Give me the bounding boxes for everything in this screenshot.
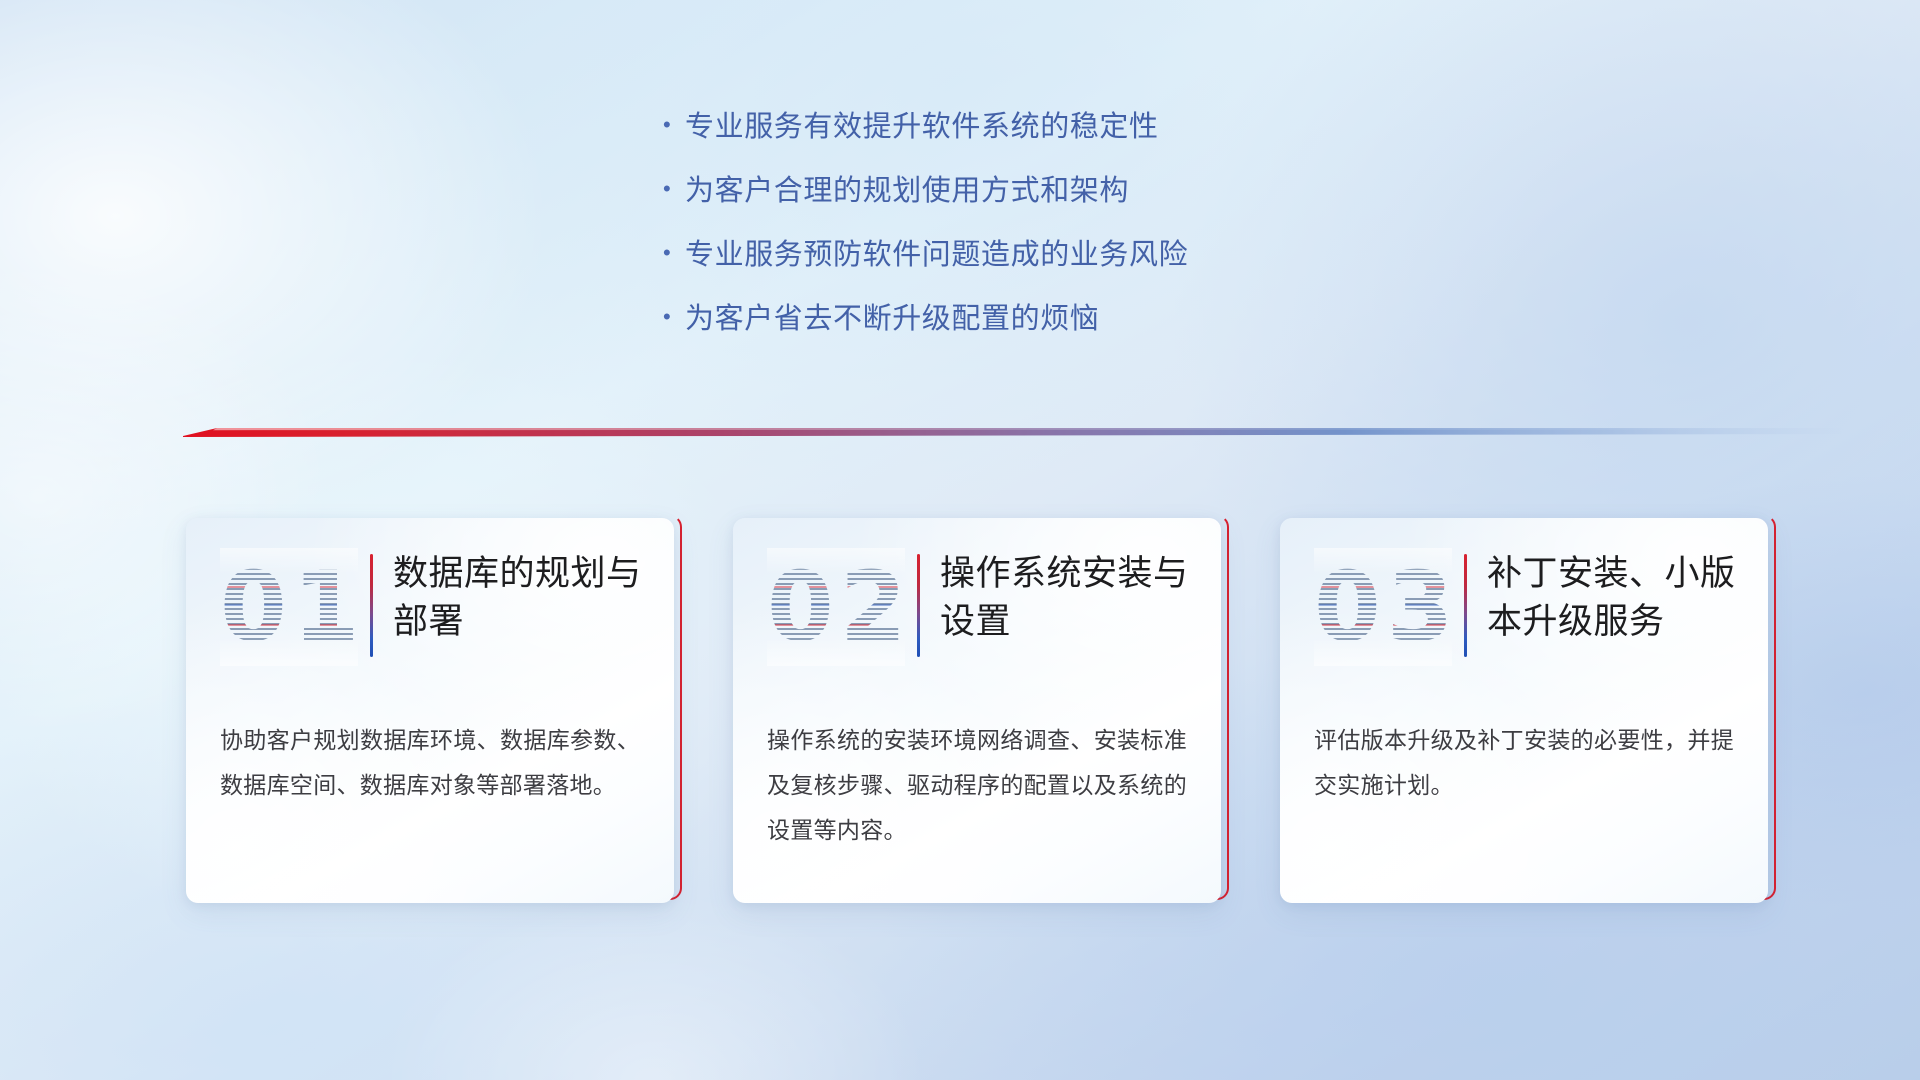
card-title-rule <box>1464 554 1467 657</box>
list-item: • 为客户省去不断升级配置的烦恼 <box>663 302 1563 336</box>
card-description: 协助客户规划数据库环境、数据库参数、数据库空间、数据库对象等部署落地。 <box>220 718 640 808</box>
service-card[interactable]: 02 02 操作系统安装与设置 操作系统的安装环境网络调查、安装标准及复核步骤、… <box>733 518 1221 903</box>
bullet-dot-icon: • <box>663 302 685 332</box>
card-header: 02 02 操作系统安装与设置 <box>767 546 1193 668</box>
section-divider <box>183 424 1843 440</box>
card-description: 操作系统的安装环境网络调查、安装标准及复核步骤、驱动程序的配置以及系统的设置等内… <box>767 718 1187 853</box>
bullet-text: 为客户合理的规划使用方式和架构 <box>685 174 1129 208</box>
card-number-tint-overlay: 01 <box>220 548 358 666</box>
card-title-rule <box>917 554 920 657</box>
service-card[interactable]: 03 03 补丁安装、小版本升级服务 评估版本升级及补丁安装的必要性，并提交实施… <box>1280 518 1768 903</box>
list-item: • 专业服务预防软件问题造成的业务风险 <box>663 238 1563 272</box>
bullet-text: 专业服务预防软件问题造成的业务风险 <box>685 238 1188 272</box>
bullet-dot-icon: • <box>663 110 685 140</box>
service-card-group: 01 01 数据库的规划与部署 协助客户规划数据库环境、数据库参数、数据库空间、… <box>186 518 1768 903</box>
card-title: 补丁安装、小版本升级服务 <box>1487 546 1740 646</box>
card-surface: 01 01 数据库的规划与部署 协助客户规划数据库环境、数据库参数、数据库空间、… <box>186 518 674 903</box>
card-number-graphic: 03 03 <box>1314 548 1452 666</box>
card-header: 03 03 补丁安装、小版本升级服务 <box>1314 546 1740 668</box>
card-title-rule <box>370 554 373 657</box>
bullet-text: 专业服务有效提升软件系统的稳定性 <box>685 110 1159 144</box>
card-number-tint-overlay: 02 <box>767 548 905 666</box>
card-title: 操作系统安装与设置 <box>940 546 1193 646</box>
service-card[interactable]: 01 01 数据库的规划与部署 协助客户规划数据库环境、数据库参数、数据库空间、… <box>186 518 674 903</box>
card-title: 数据库的规划与部署 <box>393 546 646 646</box>
card-number-tint-overlay: 03 <box>1314 548 1452 666</box>
bullet-text: 为客户省去不断升级配置的烦恼 <box>685 302 1099 336</box>
bullet-dot-icon: • <box>663 174 685 204</box>
card-description: 评估版本升级及补丁安装的必要性，并提交实施计划。 <box>1314 718 1734 808</box>
card-surface: 03 03 补丁安装、小版本升级服务 评估版本升级及补丁安装的必要性，并提交实施… <box>1280 518 1768 903</box>
card-number-graphic: 01 01 <box>220 548 358 666</box>
benefits-bullet-list: • 专业服务有效提升软件系统的稳定性 • 为客户合理的规划使用方式和架构 • 专… <box>663 110 1563 366</box>
slide-canvas: • 专业服务有效提升软件系统的稳定性 • 为客户合理的规划使用方式和架构 • 专… <box>0 0 1920 1080</box>
divider-shape-icon <box>183 424 1843 440</box>
bullet-dot-icon: • <box>663 238 685 268</box>
card-number-graphic: 02 02 <box>767 548 905 666</box>
card-surface: 02 02 操作系统安装与设置 操作系统的安装环境网络调查、安装标准及复核步骤、… <box>733 518 1221 903</box>
list-item: • 为客户合理的规划使用方式和架构 <box>663 174 1563 208</box>
card-header: 01 01 数据库的规划与部署 <box>220 546 646 668</box>
list-item: • 专业服务有效提升软件系统的稳定性 <box>663 110 1563 144</box>
